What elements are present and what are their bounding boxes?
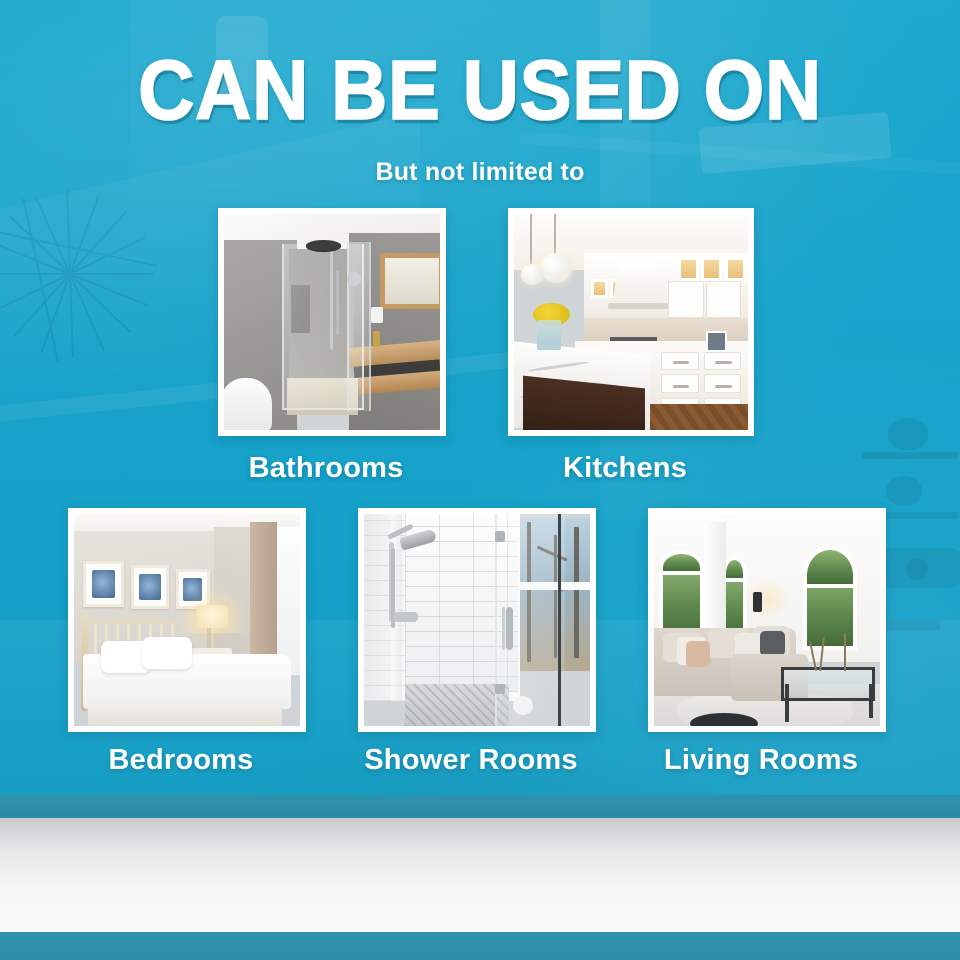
footer-bottom-bar — [0, 932, 960, 960]
card-kitchens[interactable] — [508, 208, 754, 436]
card-bathrooms[interactable] — [218, 208, 446, 436]
footer-bar: MADE IN BRITAIN MADE IN BRITAIN — [0, 818, 960, 932]
photo-bathroom — [224, 214, 440, 430]
footer-top-divider — [0, 795, 960, 818]
card-living-rooms[interactable] — [648, 508, 886, 732]
photo-bedroom — [74, 514, 300, 726]
caption-living-rooms: Living Rooms — [648, 744, 874, 777]
photo-kitchen — [514, 214, 748, 430]
page-title: CAN BE USED ON — [34, 48, 927, 132]
caption-kitchens: Kitchens — [508, 452, 742, 485]
promo-poster: CAN BE USED ON But not limited to Bathro… — [0, 0, 960, 960]
photo-shower-room — [364, 514, 590, 726]
card-bedrooms[interactable] — [68, 508, 306, 732]
caption-bedrooms: Bedrooms — [68, 744, 294, 777]
caption-shower-rooms: Shower Rooms — [358, 744, 584, 777]
photo-living-room — [654, 514, 880, 726]
caption-bathrooms: Bathrooms — [218, 452, 434, 485]
page-subtitle: But not limited to — [0, 158, 960, 187]
card-shower-rooms[interactable] — [358, 508, 596, 732]
